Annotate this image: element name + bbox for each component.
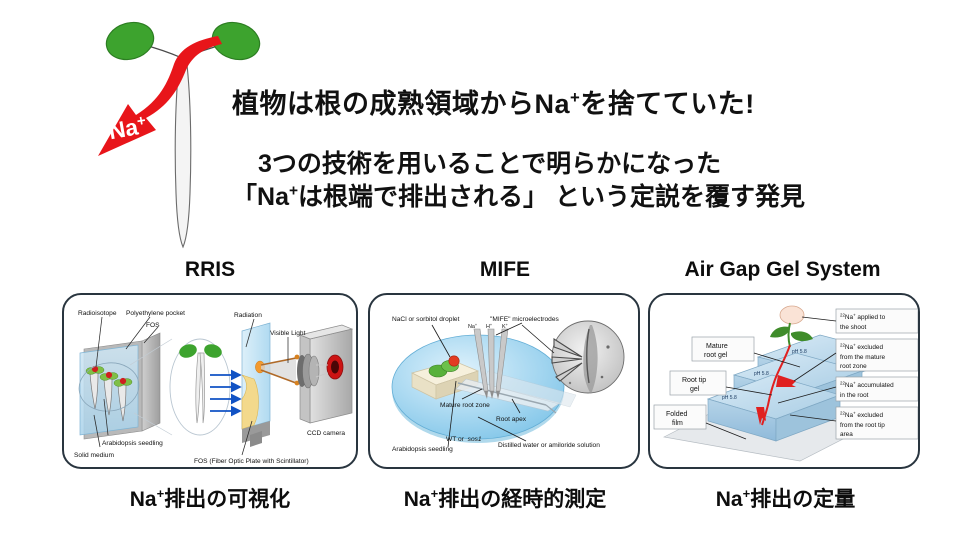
label-mature-root-gel-2: root gel <box>704 352 728 359</box>
label-root-apex: Root apex <box>496 416 527 423</box>
title-block: 植物は根の成熟領域からNa+を捨てていた! 3つの技術を用いることで明らかになっ… <box>232 88 932 215</box>
label-visible-light: Visible Light <box>270 330 306 337</box>
label-na-excluded-tip: 22Na+ excluded <box>840 411 883 419</box>
label-fos-full: FOS (Fiber Optic Plate with Scintillator… <box>194 458 309 465</box>
air-gap-gel-diagram: pH 5.8 pH 5.8 pH 5.8 Mature root gel Roo… <box>650 295 920 469</box>
svg-text:in the root: in the root <box>840 392 869 399</box>
panel-header-rris: RRIS <box>60 258 360 282</box>
rris-diagram: Radioisotope Polyethylene pocket FOS Rad… <box>64 295 358 469</box>
panel-rris[interactable]: Radioisotope Polyethylene pocket FOS Rad… <box>62 293 358 469</box>
rris-radiation-arrows <box>210 375 240 411</box>
label-root-tip-gel-2: gel <box>690 386 700 393</box>
label-ph-front: pH 5.8 <box>722 395 737 401</box>
rris-fos-plate <box>242 323 270 447</box>
label-root-tip-gel-1: Root tip <box>682 377 706 384</box>
label-mature-root-gel-1: Mature <box>706 343 728 350</box>
label-wt-sos1: WT or sos1 <box>446 436 482 443</box>
caption-air-gap-gel-system: Na+排出の定量 <box>643 483 928 513</box>
label-fos: FOS <box>146 322 160 329</box>
poster-root: Na+ 植物は根の成熟領域からNa+を捨てていた! 3つの技術を用いることで明ら… <box>0 0 980 551</box>
rris-sample-holder <box>76 333 160 439</box>
label-arabidopsis-seedling: Arabidopsis seedling <box>102 440 163 447</box>
label-ccd-camera: CCD camera <box>307 430 345 437</box>
label-nacl-droplet: NaCl or sorbitol droplet <box>392 316 460 323</box>
label-na-applied-shoot: 22Na+ applied to <box>840 313 886 321</box>
title-line-1: 植物は根の成熟領域からNa+を捨てていた! <box>232 88 932 122</box>
mife-diagram: NaCl or sorbitol droplet "MIFE" microele… <box>370 295 640 469</box>
label-radiation: Radiation <box>234 312 262 319</box>
svg-text:area: area <box>840 431 853 438</box>
label-ph-middle: pH 5.8 <box>754 371 769 377</box>
cotyledon-left <box>102 18 158 65</box>
label-distilled-water: Distilled water or amiloride solution <box>498 442 600 449</box>
panel-mife[interactable]: NaCl or sorbitol droplet "MIFE" microele… <box>368 293 640 469</box>
label-folded-film-2: film <box>672 420 683 427</box>
caption-mife: Na+排出の経時的測定 <box>365 483 645 513</box>
svg-text:from the mature: from the mature <box>840 354 886 361</box>
panel-header-air-gap-gel-system: Air Gap Gel System <box>640 258 925 282</box>
mife-microscope-photo <box>552 321 624 394</box>
mife-ion-labels: Na+ H+ K+ <box>468 323 509 330</box>
panel-air-gap-gel-system[interactable]: pH 5.8 pH 5.8 pH 5.8 Mature root gel Roo… <box>648 293 920 469</box>
label-na-excluded-mature: 22Na+ excluded <box>840 343 883 351</box>
label-arabidopsis-seedling: Arabidopsis seedling <box>392 446 453 453</box>
label-folded-film-1: Folded <box>666 411 688 418</box>
caption-rris: Na+排出の可視化 <box>60 483 360 513</box>
label-microelectrodes: "MIFE" microelectrodes <box>490 316 560 323</box>
label-ph-back: pH 5.8 <box>792 349 807 355</box>
label-mature-root-zone: Mature root zone <box>440 402 490 409</box>
title-line-2: 3つの技術を用いることで明らかになった <box>232 148 932 182</box>
rris-ccd-camera <box>297 325 352 423</box>
svg-text:the shoot: the shoot <box>840 324 867 331</box>
svg-text:root zone: root zone <box>840 363 867 370</box>
svg-text:from the root tip: from the root tip <box>840 422 885 429</box>
label-solid-medium: Solid medium <box>74 452 114 459</box>
arrow-label: Na+ <box>107 112 149 144</box>
label-na-accumulated-root: 22Na+ accumulated <box>840 381 894 389</box>
label-radioisotope: Radioisotope <box>78 310 117 317</box>
title-line-3: 「Na+は根端で排出される」 という定説を覆す発見 <box>232 181 932 215</box>
label-polyethylene-pocket: Polyethylene pocket <box>126 310 185 317</box>
panel-header-mife: MIFE <box>365 258 645 282</box>
